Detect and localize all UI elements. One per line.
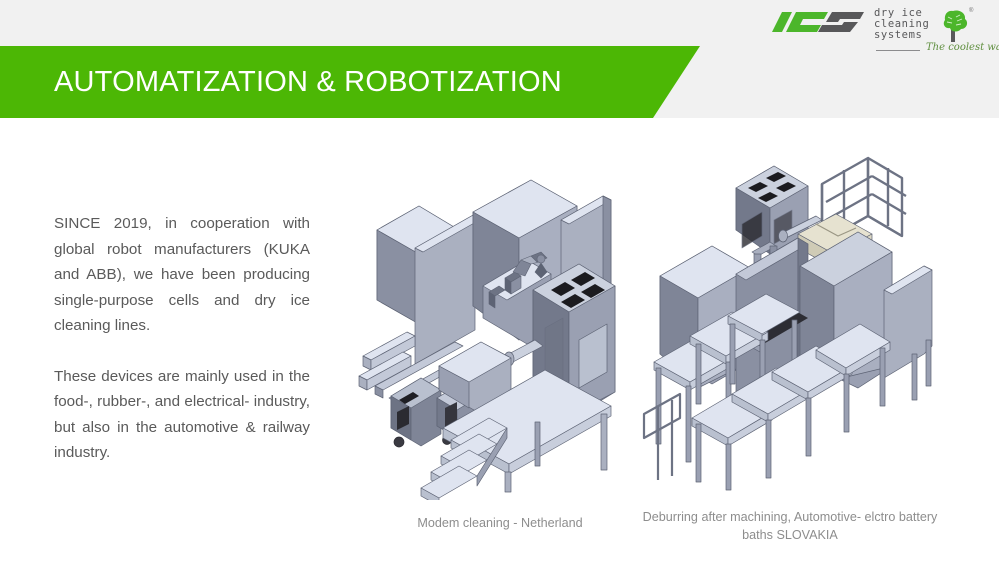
figure-caption-left: Modem cleaning - Netherland — [355, 514, 645, 532]
logo-divider-rule — [876, 50, 920, 51]
logo-tagline: The coolest way to clean... — [926, 42, 999, 53]
figure-modem-cleaning-cell — [355, 160, 645, 500]
ics-logo-words: dry ice cleaning systems — [874, 8, 929, 41]
ics-wordmark-icon — [770, 10, 868, 40]
body-paragraph-2: These devices are mainly used in the foo… — [54, 364, 310, 466]
slide-canvas: dry ice cleaning systems ® The coolest w… — [0, 0, 999, 563]
registered-mark-icon: ® — [969, 8, 973, 14]
figure-caption-right: Deburring after machining, Automotive- e… — [640, 508, 940, 544]
logo-line-3: systems — [874, 30, 929, 41]
tree-icon — [936, 8, 970, 44]
body-paragraph-1: SINCE 2019, in cooperation with global r… — [54, 211, 310, 339]
body-text-column: SINCE 2019, in cooperation with global r… — [54, 211, 310, 466]
page-title: AUTOMATIZATION & ROBOTIZATION — [54, 46, 562, 118]
figure-deburring-cell — [640, 150, 940, 500]
ics-logo: dry ice cleaning systems ® The coolest w… — [770, 6, 990, 62]
